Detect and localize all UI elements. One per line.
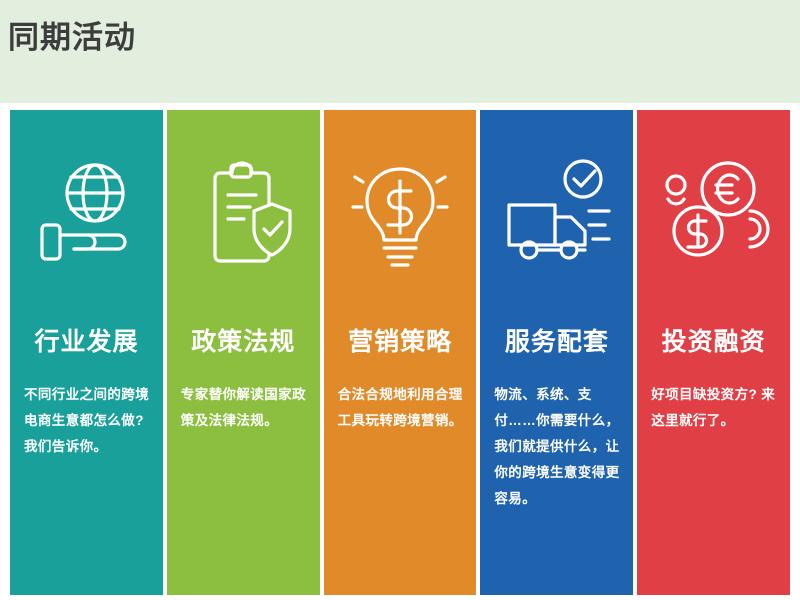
column-title: 服务配套: [480, 322, 633, 358]
column-body: 物流、系统、支付……你需要什么，我们就提供什么，让你的跨境生意变得更容易。: [494, 382, 620, 512]
truck-check-icon: [480, 140, 633, 290]
column-title: 投资融资: [637, 322, 790, 358]
column-title: 营销策略: [324, 322, 477, 358]
column-title: 政策法规: [167, 322, 320, 358]
column-marketing[interactable]: 营销策略 合法合规地利用合理工具玩转跨境营销。: [324, 110, 477, 595]
column-industry[interactable]: 行业发展 不同行业之间的跨境电商生意都怎么做? 我们告诉你。: [10, 110, 163, 595]
header-band: 同期活动: [0, 0, 800, 103]
lightbulb-dollar-icon: [324, 140, 477, 290]
column-policy[interactable]: 政策法规 专家替你解读国家政策及法律法规。: [167, 110, 320, 595]
column-body: 合法合规地利用合理工具玩转跨境营销。: [338, 382, 464, 434]
globe-in-hand-icon: [10, 140, 163, 290]
columns-container: 行业发展 不同行业之间的跨境电商生意都怎么做? 我们告诉你。 政策法规 专家替你…: [10, 110, 790, 595]
page-title: 同期活动: [8, 18, 136, 58]
column-title: 行业发展: [10, 322, 163, 358]
column-body: 专家替你解读国家政策及法律法规。: [181, 382, 307, 434]
clipboard-shield-icon: [167, 140, 320, 290]
column-body: 不同行业之间的跨境电商生意都怎么做? 我们告诉你。: [24, 382, 150, 460]
coins-euro-dollar-icon: [637, 140, 790, 290]
column-service[interactable]: 服务配套 物流、系统、支付……你需要什么，我们就提供什么，让你的跨境生意变得更容…: [480, 110, 633, 595]
column-investment[interactable]: 投资融资 好项目缺投资方? 来这里就行了。: [637, 110, 790, 595]
slide-root: 同期活动 行业发展 不同行业之间的跨境电商生意都怎么做? 我们告诉你。: [0, 0, 800, 600]
column-body: 好项目缺投资方? 来这里就行了。: [651, 382, 777, 434]
